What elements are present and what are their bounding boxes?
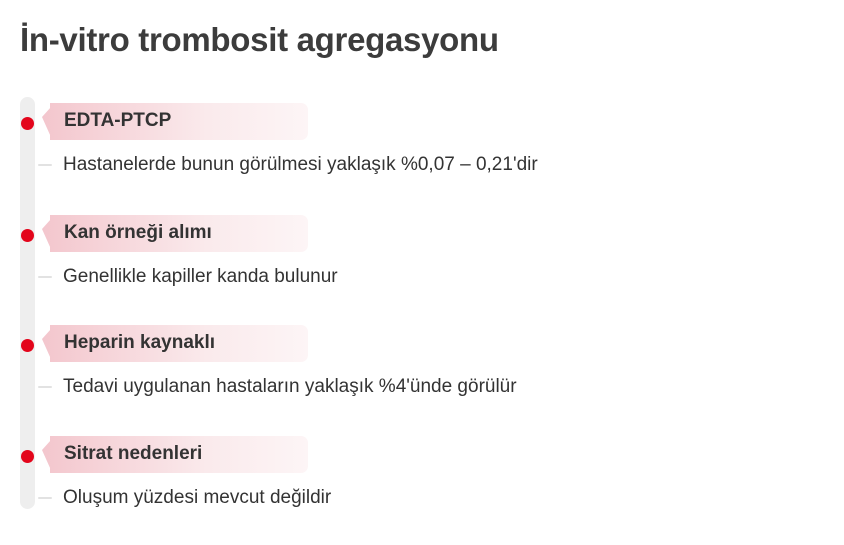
timeline-item-description: Genellikle kapiller kanda bulunur — [63, 265, 338, 290]
timeline-item[interactable]: EDTA-PTCP Hastanelerde bunun görülmesi y… — [0, 100, 844, 212]
timeline-connector-icon — [38, 276, 52, 278]
timeline-item[interactable]: Kan örneği alımı Genellikle kapiller kan… — [0, 212, 844, 324]
timeline-item[interactable]: Sitrat nedenleri Oluşum yüzdesi mevcut d… — [0, 433, 844, 545]
timeline-item-label: Kan örneği alımı — [64, 222, 212, 245]
timeline-item-label: Heparin kaynaklı — [64, 332, 215, 355]
timeline-connector-icon — [38, 164, 52, 166]
timeline-dot-icon — [21, 450, 34, 463]
timeline-item-description: Tedavi uygulanan hastaların yaklaşık %4'… — [63, 375, 517, 400]
timeline-list: EDTA-PTCP Hastanelerde bunun görülmesi y… — [0, 0, 844, 536]
timeline-item[interactable]: Heparin kaynaklı Tedavi uygulanan hastal… — [0, 322, 844, 434]
timeline-dot-icon — [21, 229, 34, 242]
timeline-item-label: EDTA-PTCP — [64, 110, 171, 133]
timeline-dot-icon — [21, 339, 34, 352]
timeline-item-description: Oluşum yüzdesi mevcut değildir — [63, 486, 331, 511]
timeline-item-label: Sitrat nedenleri — [64, 443, 202, 466]
timeline-connector-icon — [38, 386, 52, 388]
slide-canvas: İn-vitro trombosit agregasyonu EDTA-PTCP… — [0, 0, 844, 536]
timeline-connector-icon — [38, 497, 52, 499]
timeline-item-description: Hastanelerde bunun görülmesi yaklaşık %0… — [63, 153, 538, 178]
timeline-dot-icon — [21, 117, 34, 130]
